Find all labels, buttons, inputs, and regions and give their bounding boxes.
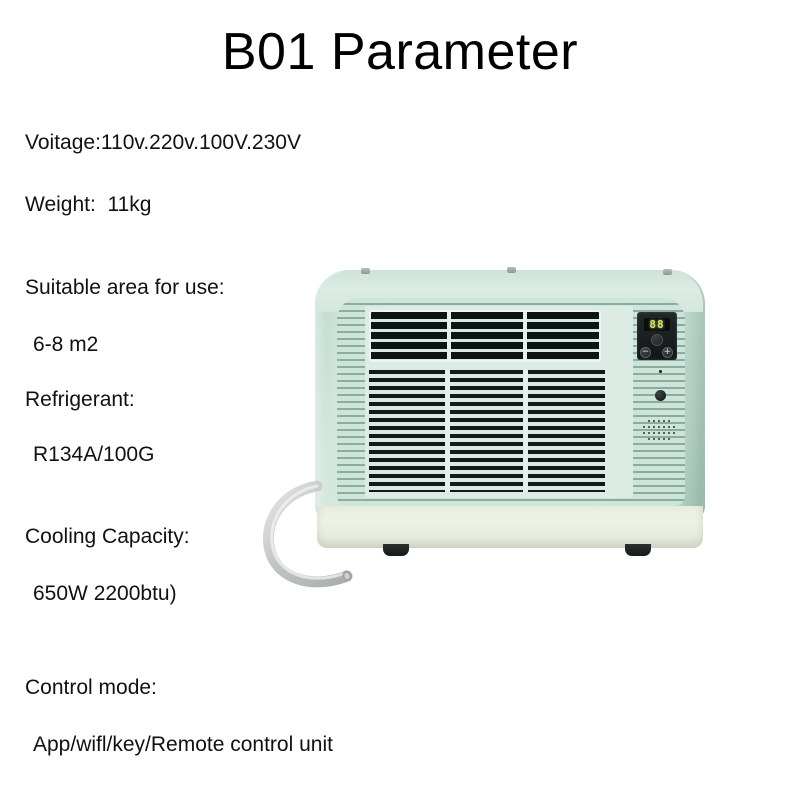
indicator-pin-icon (659, 370, 662, 373)
spec-voltage: Voitage:110v.220v.100V.230V (25, 132, 455, 153)
plus-button[interactable]: + (662, 347, 673, 358)
louver-slats (371, 312, 599, 360)
display-value: 88 (649, 319, 664, 330)
grille-divider (523, 370, 528, 492)
ir-sensor-icon (655, 390, 666, 401)
speaker-dot-matrix (640, 420, 678, 448)
dot-row (640, 438, 678, 440)
dot-row (640, 426, 678, 428)
minus-button[interactable]: − (640, 347, 651, 358)
dot-row (640, 432, 678, 434)
louver-divider (447, 312, 451, 360)
grille-divider (445, 370, 450, 492)
top-screw-icon (361, 268, 370, 274)
drain-hose (255, 478, 395, 598)
product-image: 88 − + (255, 258, 715, 608)
led-display: 88 (644, 318, 670, 331)
spec-weight: Weight: 11kg (25, 194, 455, 215)
dot-row (640, 420, 678, 422)
power-knob-button[interactable] (651, 334, 663, 346)
page-title: B01 Parameter (0, 22, 800, 82)
spec-control-value: App/wifl/key/Remote control unit (25, 734, 455, 755)
air-outlet-louver (369, 310, 601, 362)
product-spec-page: B01 Parameter Voitage:110v.220v.100V.230… (0, 0, 800, 800)
top-screw-icon (663, 269, 672, 275)
top-screw-icon (507, 267, 516, 273)
grille-slats (369, 370, 605, 492)
rubber-foot (625, 544, 651, 556)
ac-unit-front-face: 88 − + (337, 298, 685, 506)
louver-divider (523, 312, 527, 360)
control-panel[interactable]: 88 − + (637, 312, 677, 360)
intake-grille (369, 370, 605, 492)
spec-control-label: Control mode: (25, 677, 455, 698)
